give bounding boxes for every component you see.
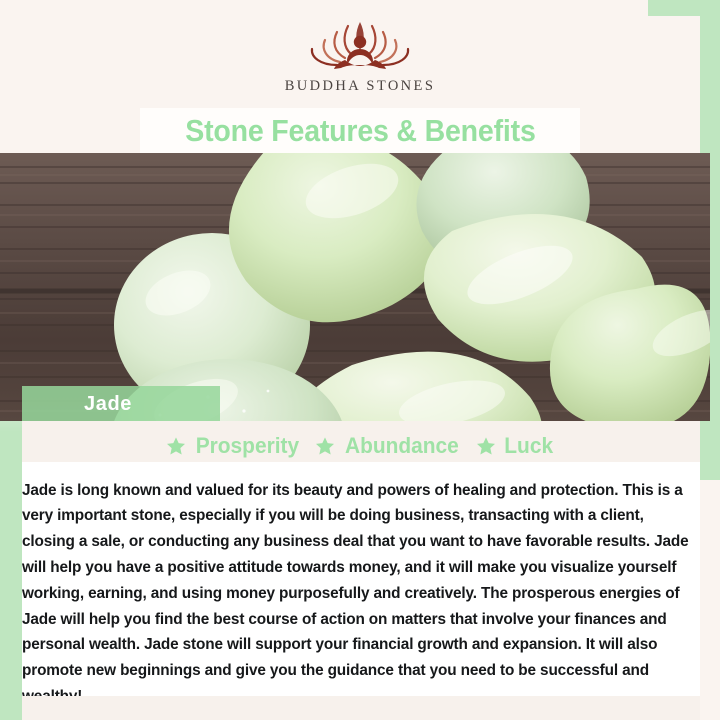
stone-info-card: BUDDHA STONES Stone Features & Benefits <box>0 0 720 720</box>
star-icon <box>315 436 335 456</box>
stone-photo <box>0 153 710 421</box>
stone-name-banner: Jade <box>22 386 220 422</box>
benefits-row: Prosperity Abundance Luck <box>22 430 698 462</box>
benefit-item: Abundance <box>315 433 462 459</box>
decor-band-left <box>0 392 22 720</box>
page-title: Stone Features & Benefits <box>185 113 535 149</box>
brand-name: BUDDHA STONES <box>285 78 436 95</box>
benefit-label: Abundance <box>345 433 459 459</box>
description-area: Jade is long known and valued for its be… <box>22 462 700 696</box>
benefit-label: Prosperity <box>195 433 298 459</box>
cream-divider-bottom <box>22 696 700 720</box>
star-icon <box>166 436 186 456</box>
benefit-label: Luck <box>504 433 553 459</box>
stone-name-label: Jade <box>84 393 132 416</box>
star-icon <box>476 436 496 456</box>
lotus-meditation-icon <box>285 16 435 76</box>
brand-header: BUDDHA STONES <box>0 0 720 110</box>
benefit-item: Prosperity <box>166 433 302 459</box>
description-text: Jade is long known and valued for its be… <box>22 478 696 710</box>
stone-photo-illustration <box>0 153 710 421</box>
benefit-item: Luck <box>476 433 554 459</box>
title-band: Stone Features & Benefits <box>140 108 580 153</box>
